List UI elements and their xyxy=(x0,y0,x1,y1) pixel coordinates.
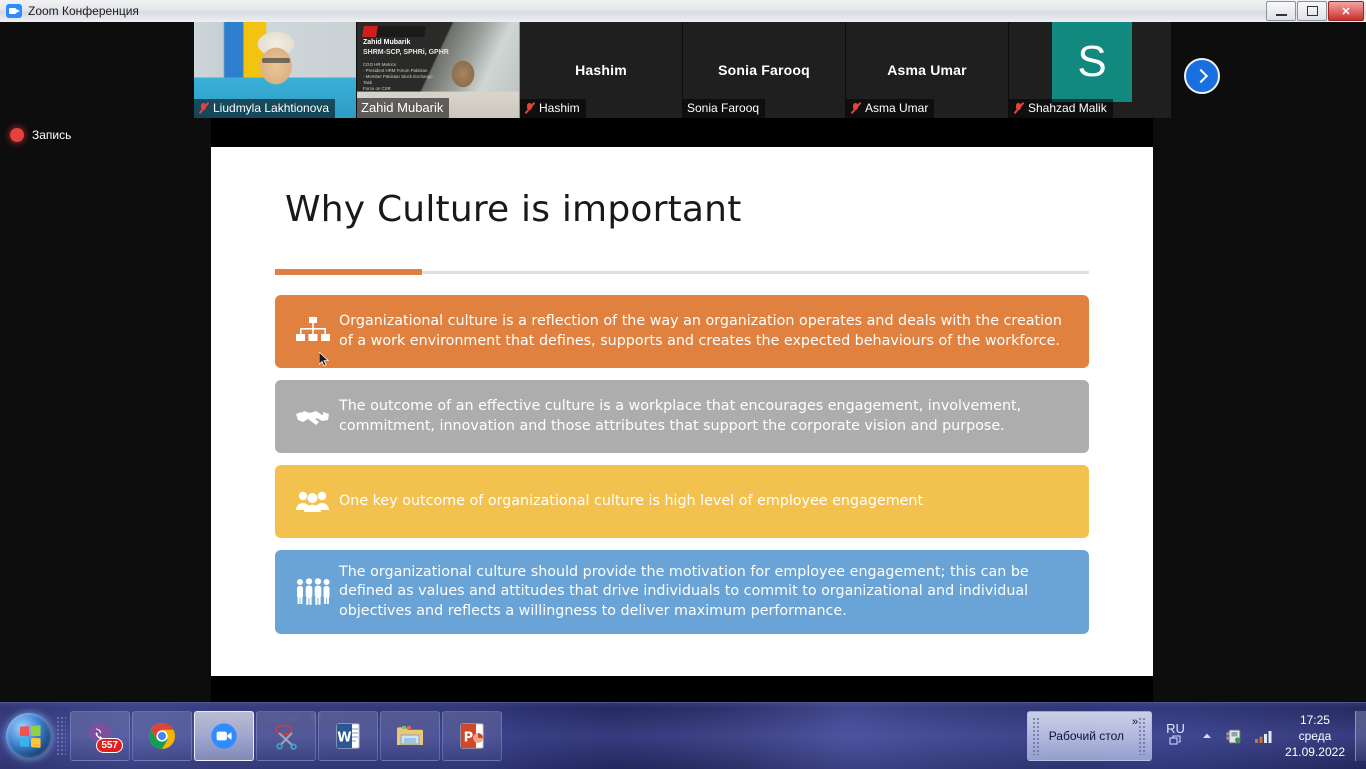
taskbar-buttons: 557 W P xyxy=(70,711,502,761)
windows-taskbar: 557 W P Рабочий стол » RU xyxy=(0,702,1366,769)
minimize-icon xyxy=(1276,14,1287,16)
recording-label: Запись xyxy=(32,128,71,142)
zoom-meeting-window: Запись Liudmyla Lakhtionova Zahid Mubari… xyxy=(0,22,1366,702)
network-signal-icon[interactable] xyxy=(1254,728,1274,744)
org-chart-icon xyxy=(287,317,339,347)
participant-namebar: Zahid Mubarik xyxy=(357,98,449,118)
start-button[interactable] xyxy=(6,713,52,759)
content-bar-2: The outcome of an effective culture is a… xyxy=(275,380,1089,453)
desktop-toolbar[interactable]: Рабочий стол » xyxy=(1027,711,1152,761)
clock[interactable]: 17:25 среда 21.09.2022 xyxy=(1285,712,1345,760)
shared-screen-area: Why Culture is important xyxy=(211,118,1153,702)
content-bar-text: Organizational culture is a reflection o… xyxy=(339,312,1073,351)
svg-text:W: W xyxy=(337,730,351,745)
slide-accent-bar xyxy=(275,269,422,275)
muted-mic-icon xyxy=(524,102,535,114)
taskbar-button-viber[interactable]: 557 xyxy=(70,711,130,761)
participant-name: Asma Umar xyxy=(865,101,928,115)
participant-name: Liudmyla Lakhtionova xyxy=(213,101,329,115)
content-bar-1: Organizational culture is a reflection o… xyxy=(275,295,1089,368)
svg-text:P: P xyxy=(464,730,474,745)
clock-time: 17:25 xyxy=(1285,712,1345,728)
taskbar-button-file-explorer[interactable] xyxy=(380,711,440,761)
content-bar-text: The outcome of an effective culture is a… xyxy=(339,397,1073,436)
participant-name: Zahid Mubarik xyxy=(361,100,443,115)
participant-tile-sonia-farooq[interactable]: Sonia Farooq Sonia Farooq xyxy=(683,22,846,118)
participant-tile-liudmyla-lakhtionova[interactable]: Liudmyla Lakhtionova xyxy=(194,22,357,118)
show-desktop-button[interactable] xyxy=(1355,711,1366,761)
flash-drive-icon[interactable] xyxy=(1224,726,1244,746)
recording-indicator: Запись xyxy=(10,128,71,142)
virtual-bg-title: Zahid Mubarik xyxy=(363,38,410,47)
desktop-toolbar-label: Рабочий стол xyxy=(1041,729,1132,743)
taskbar-button-snipping-tool[interactable] xyxy=(256,711,316,761)
participant-tile-asma-umar[interactable]: Asma Umar Asma Umar xyxy=(846,22,1009,118)
virtual-bg-subtitle: SHRM-SCP, SPHRi, GPHR xyxy=(363,48,449,57)
muted-mic-icon xyxy=(850,102,861,114)
toolbar-grip[interactable] xyxy=(56,716,66,756)
taskbar-button-zoom[interactable] xyxy=(194,711,254,761)
notification-badge: 557 xyxy=(96,738,123,753)
toolbar-grip[interactable] xyxy=(1032,717,1041,755)
slide-content-bars: Organizational culture is a reflection o… xyxy=(275,295,1089,646)
restore-button[interactable] xyxy=(1297,1,1327,21)
restore-icon xyxy=(1307,6,1318,16)
participant-name: Hashim xyxy=(539,101,580,115)
participant-name: Shahzad Malik xyxy=(1028,101,1107,115)
handshake-icon xyxy=(287,405,339,429)
muted-mic-icon xyxy=(198,102,209,114)
participant-tile-zahid-mubarik[interactable]: Zahid Mubarik SHRM-SCP, SPHRi, GPHR CGO … xyxy=(357,22,520,118)
people-group-icon xyxy=(287,490,339,514)
virtual-bg-logo xyxy=(362,26,426,37)
record-dot-icon xyxy=(10,128,24,142)
close-button[interactable]: ✕ xyxy=(1328,1,1364,21)
participant-namebar: Shahzad Malik xyxy=(1009,99,1113,118)
muted-mic-icon xyxy=(1013,102,1024,114)
participant-tile-hashim[interactable]: Hashim Hashim xyxy=(520,22,683,118)
presentation-slide: Why Culture is important xyxy=(211,147,1153,676)
four-people-icon xyxy=(287,578,339,606)
minimize-button[interactable] xyxy=(1266,1,1296,21)
content-bar-4: The organizational culture should provid… xyxy=(275,550,1089,634)
system-tray: Рабочий стол » RU 17:25 среда 21.09.2022 xyxy=(1027,703,1366,769)
window-title: Zoom Конференция xyxy=(28,4,139,18)
participant-namebar: Liudmyla Lakhtionova xyxy=(194,99,335,118)
participant-namebar: Hashim xyxy=(520,99,586,118)
participant-name: Sonia Farooq xyxy=(687,101,759,115)
taskbar-button-microsoft-word[interactable]: W xyxy=(318,711,378,761)
window-titlebar: Zoom Конференция ✕ xyxy=(0,0,1366,23)
avatar: S xyxy=(1052,22,1132,102)
show-hidden-icons-arrow[interactable] xyxy=(1200,729,1214,743)
taskbar-button-powerpoint[interactable]: P xyxy=(442,711,502,761)
slide-title: Why Culture is important xyxy=(285,189,742,230)
participant-namebar: Sonia Farooq xyxy=(683,99,765,118)
content-bar-text: One key outcome of organizational cultur… xyxy=(339,492,923,512)
content-bar-text: The organizational culture should provid… xyxy=(339,563,1073,622)
content-bar-3: One key outcome of organizational cultur… xyxy=(275,465,1089,538)
zoom-camera-icon xyxy=(6,4,22,18)
windows-logo-icon xyxy=(19,725,40,748)
participant-tile-shahzad-malik[interactable]: S Shahzad Malik xyxy=(1009,22,1172,118)
toolbar-grip[interactable] xyxy=(1138,717,1147,755)
participant-namebar: Asma Umar xyxy=(846,99,934,118)
window-switch-icon[interactable] xyxy=(1169,734,1182,752)
clock-date: 21.09.2022 xyxy=(1285,744,1345,760)
next-participants-page-button[interactable] xyxy=(1184,58,1220,94)
clock-weekday: среда xyxy=(1285,728,1345,744)
taskbar-button-google-chrome[interactable] xyxy=(132,711,192,761)
participant-filmstrip: Liudmyla Lakhtionova Zahid Mubarik SHRM-… xyxy=(194,22,1170,118)
chevron-right-icon xyxy=(1193,69,1207,83)
window-controls: ✕ xyxy=(1266,1,1364,21)
